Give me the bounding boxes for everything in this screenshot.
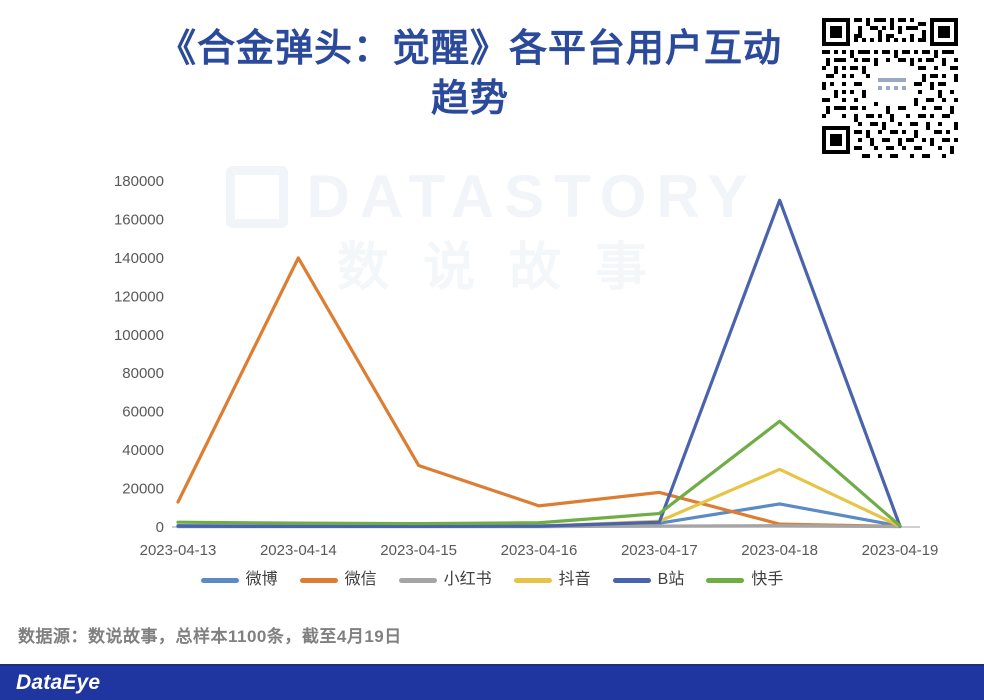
series-line [178,200,900,526]
legend-swatch-icon [514,578,552,583]
x-axis-tick-label: 2023-04-15 [380,542,457,559]
legend-swatch-icon [399,578,437,583]
series-line [178,258,900,527]
legend-item[interactable]: B站 [613,572,685,588]
x-axis-tick-label: 2023-04-13 [140,542,217,559]
legend-item[interactable]: 小红书 [399,572,492,588]
chart-legend: 微博微信小红书抖音B站快手 [0,572,984,588]
chart-page: DATASTORY 数说故事 《合金弹头：觉醒》各平台用户互动趋势 [0,0,984,700]
legend-label: 小红书 [444,572,492,588]
x-axis-tick-label: 2023-04-14 [260,542,337,559]
source-note: 数据源：数说故事，总样本1100条，截至4月19日 [18,622,402,647]
legend-swatch-icon [201,578,239,583]
brand-logo: DataEye [16,671,100,695]
y-axis-tick-label: 120000 [114,288,164,305]
y-axis-tick-label: 100000 [114,327,164,344]
legend-swatch-icon [300,578,338,583]
legend-label: 快手 [751,572,783,588]
legend-swatch-icon [613,578,651,583]
y-axis-tick-label: 80000 [122,365,164,382]
y-axis-tick-label: 40000 [122,442,164,459]
legend-label: B站 [658,572,685,588]
y-axis-tick-label: 140000 [114,250,164,267]
series-line [178,469,900,526]
line-chart: 0200004000060000800001000001200001400001… [0,150,984,570]
footer-bar: DataEye [0,666,984,700]
x-axis-tick-label: 2023-04-19 [862,542,939,559]
y-axis-tick-label: 20000 [122,481,164,498]
y-axis-tick-label: 0 [156,519,164,536]
legend-swatch-icon [706,578,744,583]
y-axis-tick-label: 160000 [114,211,164,228]
legend-label: 微博 [246,572,278,588]
legend-label: 抖音 [559,572,591,588]
page-title: 《合金弹头：觉醒》各平台用户互动趋势 [150,24,790,124]
legend-item[interactable]: 微博 [201,572,278,588]
legend-item[interactable]: 抖音 [514,572,591,588]
legend-item[interactable]: 快手 [706,572,783,588]
qr-code-icon[interactable] [818,14,966,162]
y-axis-tick-label: 180000 [114,173,164,190]
x-axis-tick-label: 2023-04-17 [621,542,698,559]
legend-item[interactable]: 微信 [300,572,377,588]
x-axis-tick-label: 2023-04-18 [741,542,818,559]
y-axis-tick-label: 60000 [122,404,164,421]
legend-label: 微信 [345,572,377,588]
x-axis-tick-label: 2023-04-16 [501,542,578,559]
